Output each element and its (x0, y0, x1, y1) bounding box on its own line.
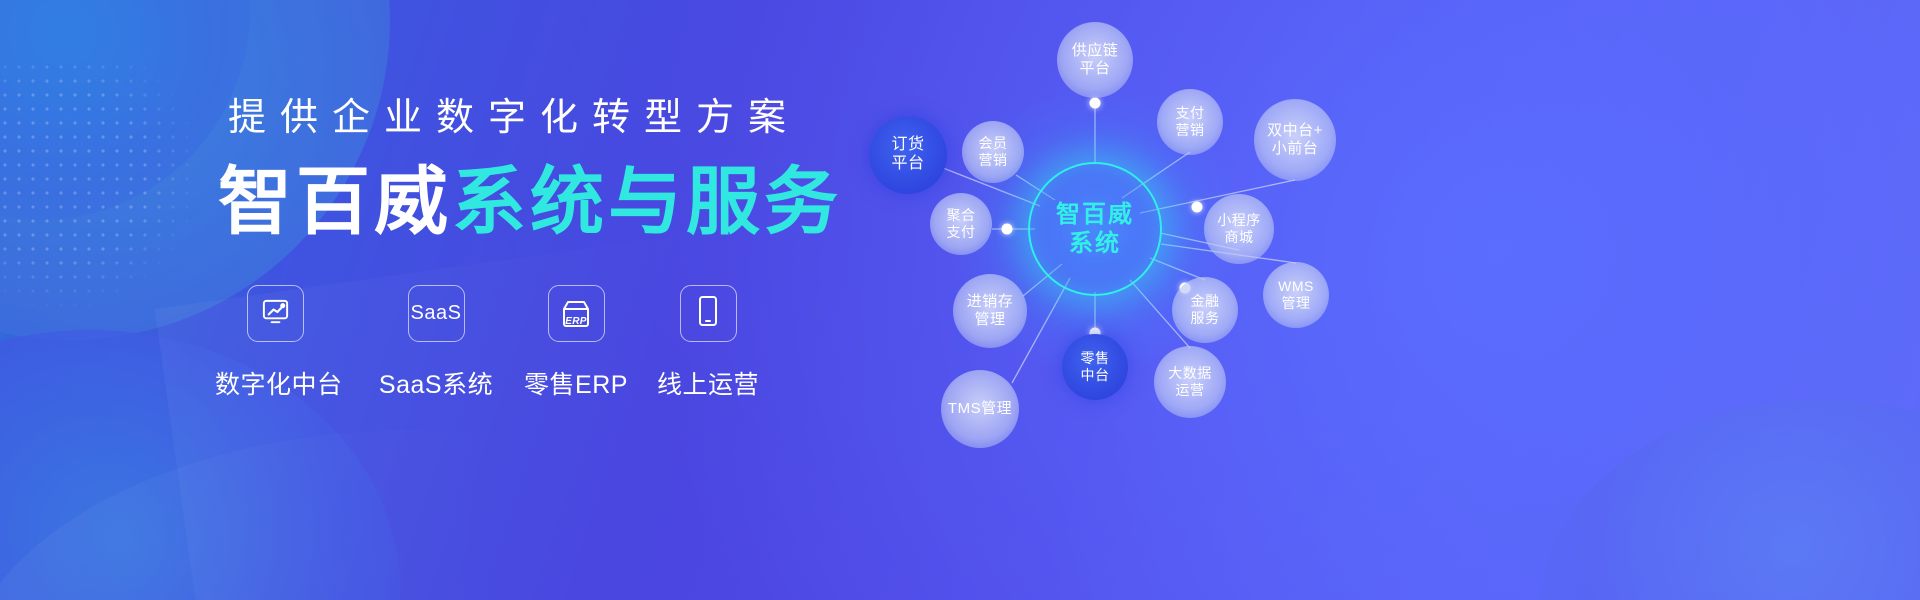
hero-banner: 提供企业数字化转型方案 智百威系统与服务 数字化中台 (0, 0, 1920, 600)
node-label-line1: 双中台+ (1267, 122, 1323, 140)
node-label-line1: TMS管理 (948, 400, 1012, 418)
node-label-line2: 支付 (947, 224, 976, 241)
diagram-node-dual-midend[interactable]: 双中台+小前台 (1254, 99, 1336, 181)
feature-icon-box (680, 285, 737, 342)
node-label-line1: 供应链 (1072, 42, 1119, 60)
diagram-node-wms[interactable]: WMS管理 (1263, 262, 1329, 328)
node-label-line1: 进销存 (967, 293, 1014, 311)
node-label-line1: 金融 (1191, 293, 1220, 310)
feature-label: SaaS系统 (376, 365, 496, 401)
node-label-line1: 聚合 (947, 207, 976, 224)
diagram-node-payment-marketing[interactable]: 支付营销 (1157, 89, 1223, 155)
feature-label: 数字化中台 (215, 365, 335, 401)
node-label-line2: 平台 (1072, 60, 1119, 78)
node-label-line2: 商城 (1217, 229, 1261, 246)
diagram-node-order-platform[interactable]: 订货平台 (869, 116, 947, 194)
system-ecosystem-diagram: 智百威 系统 供应链平台 支付营销 双中台+小前台 订货平台 会员营销 小程序商… (840, 0, 1920, 600)
node-label-line2: 运营 (1168, 382, 1212, 399)
node-label-line2: 营销 (1176, 122, 1205, 139)
diagram-node-inventory-management[interactable]: 进销存管理 (953, 274, 1027, 348)
node-label-line2: 营销 (979, 152, 1008, 169)
diagram-node-aggregate-payment[interactable]: 聚合支付 (930, 193, 992, 255)
feature-label: 零售ERP (516, 365, 636, 401)
node-label-line2: 小前台 (1267, 140, 1323, 158)
node-label-line1: 支付 (1176, 105, 1205, 122)
hub-node-zhibaiwei[interactable]: 智百威 系统 (1028, 162, 1162, 296)
hero-subtitle: 提供企业数字化转型方案 (228, 99, 800, 137)
diagram-node-finance-service[interactable]: 金融服务 (1172, 277, 1238, 343)
node-label-line2: 管理 (1278, 295, 1314, 312)
diagram-node-supply-chain[interactable]: 供应链平台 (1057, 22, 1133, 98)
feature-item-saas[interactable]: SaaS SaaS系统 (376, 285, 496, 401)
node-label-line1: 大数据 (1168, 365, 1212, 382)
feature-item-online-ops[interactable]: 线上运营 (648, 285, 768, 401)
feature-list: 数字化中台 SaaS SaaS系统 ERP (228, 285, 808, 405)
diagram-node-bigdata-operations[interactable]: 大数据运营 (1154, 346, 1226, 418)
erp-label: ERP (559, 316, 593, 327)
node-label-line2: 服务 (1191, 310, 1220, 327)
node-label-line2: 管理 (967, 311, 1014, 329)
connector-dot (1090, 98, 1101, 109)
diagram-node-mini-program-mall[interactable]: 小程序商城 (1204, 194, 1274, 264)
feature-icon-box: ERP (548, 285, 605, 342)
hub-label-line2: 系统 (1056, 229, 1134, 258)
hero-headline: 智百威系统与服务 (218, 162, 842, 242)
feature-item-digital-midend[interactable]: 数字化中台 (215, 285, 335, 401)
hub-label-line1: 智百威 (1056, 200, 1134, 229)
node-label-line1: 订货 (891, 136, 924, 155)
chart-monitor-icon (260, 296, 291, 332)
node-label-line1: 零售 (1081, 350, 1110, 367)
node-label-line1: 小程序 (1217, 212, 1261, 229)
headline-system: 系统与 (452, 160, 686, 243)
diagram-node-member-marketing[interactable]: 会员营销 (962, 121, 1024, 183)
feature-icon-box: SaaS (408, 285, 465, 342)
node-label-line1: WMS (1278, 278, 1314, 295)
diagram-node-tms[interactable]: TMS管理 (941, 370, 1019, 448)
mobile-phone-icon (696, 295, 720, 332)
diagram-node-retail-midend[interactable]: 零售中台 (1062, 334, 1128, 400)
feature-label: 线上运营 (648, 365, 768, 401)
erp-box-icon: ERP (559, 299, 593, 329)
saas-text-icon: SaaS (411, 302, 462, 325)
headline-brand: 智百威 (218, 160, 452, 243)
feature-item-retail-erp[interactable]: ERP 零售ERP (516, 285, 636, 401)
hero-copy: 提供企业数字化转型方案 智百威系统与服务 数字化中台 (0, 0, 900, 600)
feature-icon-box (247, 285, 304, 342)
node-label-line1: 会员 (979, 135, 1008, 152)
node-label-line2: 平台 (891, 155, 924, 174)
node-label-line2: 中台 (1081, 367, 1110, 384)
connector-dot (1002, 224, 1013, 235)
connector-dot (1192, 202, 1203, 213)
headline-service: 服务 (686, 160, 842, 243)
